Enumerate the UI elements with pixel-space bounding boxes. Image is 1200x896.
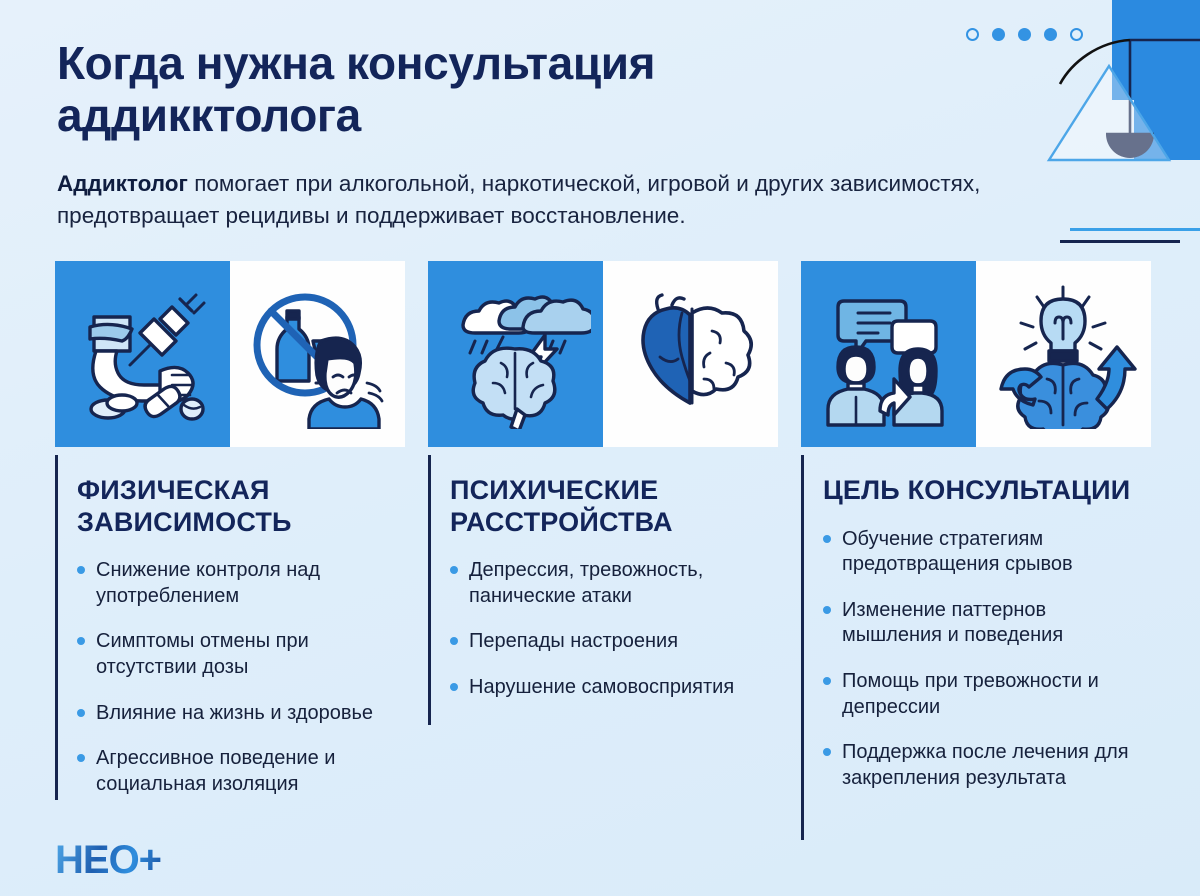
lightbulb-brain-arrows-icon [976, 261, 1151, 447]
people-speech-bubbles-icon [801, 261, 976, 447]
list-item: Изменение паттернов мышления и поведения [823, 598, 1151, 649]
column-divider [428, 455, 431, 725]
card-body: ПСИХИЧЕСКИЕ РАССТРОЙСТВА Депрессия, трев… [428, 447, 778, 701]
heart-brain-icon [603, 261, 778, 447]
decor-dot-2 [992, 28, 1005, 41]
list-item: Поддержка после лечения для закрепления … [823, 740, 1151, 791]
card-columns: ФИЗИЧЕСКАЯ ЗАВИСИМОСТЬ Снижение контроля… [55, 261, 1151, 817]
list-item: Нарушение самовосприятия [450, 675, 778, 701]
card-bullet-list: Снижение контроля над употреблением Симп… [77, 558, 405, 797]
subtitle-text: помогает при алкогольной, наркотической,… [57, 171, 980, 228]
arm-syringe-pills-icon [55, 261, 230, 447]
card-consultation-goal: ЦЕЛЬ КОНСУЛЬТАЦИИ Обучение стратегиям пр… [801, 261, 1151, 817]
card-heading: ПСИХИЧЕСКИЕ РАССТРОЙСТВА [450, 475, 778, 538]
card-image-pair [55, 261, 405, 447]
list-item: Обучение стратегиям предотвращения срыво… [823, 527, 1151, 578]
card-image-pair [428, 261, 778, 447]
page-title: Когда нужна консультация аддикктолога [57, 38, 877, 141]
list-item: Влияние на жизнь и здоровье [77, 701, 405, 727]
card-heading: ФИЗИЧЕСКАЯ ЗАВИСИМОСТЬ [77, 475, 405, 538]
list-item: Депрессия, тревожность, панические атаки [450, 558, 778, 609]
card-bullet-list: Депрессия, тревожность, панические атаки… [450, 558, 778, 700]
list-item: Агрессивное поведение и социальная изоля… [77, 746, 405, 797]
brand-logo: НЕО+ [55, 838, 161, 883]
subtitle-bold-term: Аддиктолог [57, 171, 188, 196]
card-image-pair [801, 261, 1151, 447]
card-mental-disorders: ПСИХИЧЕСКИЕ РАССТРОЙСТВА Депрессия, трев… [428, 261, 778, 817]
storm-cloud-brain-icon [428, 261, 603, 447]
list-item: Помощь при тревожности и депрессии [823, 669, 1151, 720]
card-bullet-list: Обучение стратегиям предотвращения срыво… [823, 527, 1151, 792]
list-item: Снижение контроля над употреблением [77, 558, 405, 609]
decor-dot-1 [966, 28, 979, 41]
column-divider [801, 455, 804, 840]
list-item: Перепады настроения [450, 629, 778, 655]
page-subtitle: Аддиктолог помогает при алкогольной, нар… [57, 168, 1122, 232]
column-divider [55, 455, 58, 800]
card-heading: ЦЕЛЬ КОНСУЛЬТАЦИИ [823, 475, 1151, 507]
no-alcohol-sad-person-icon [230, 261, 405, 447]
decor-triangle [1045, 60, 1175, 170]
list-item: Симптомы отмены при отсутствии дозы [77, 629, 405, 680]
decor-line-dark [1060, 240, 1180, 243]
card-body: ЦЕЛЬ КОНСУЛЬТАЦИИ Обучение стратегиям пр… [801, 447, 1151, 791]
card-body: ФИЗИЧЕСКАЯ ЗАВИСИМОСТЬ Снижение контроля… [55, 447, 405, 797]
card-physical-dependence: ФИЗИЧЕСКАЯ ЗАВИСИМОСТЬ Снижение контроля… [55, 261, 405, 817]
